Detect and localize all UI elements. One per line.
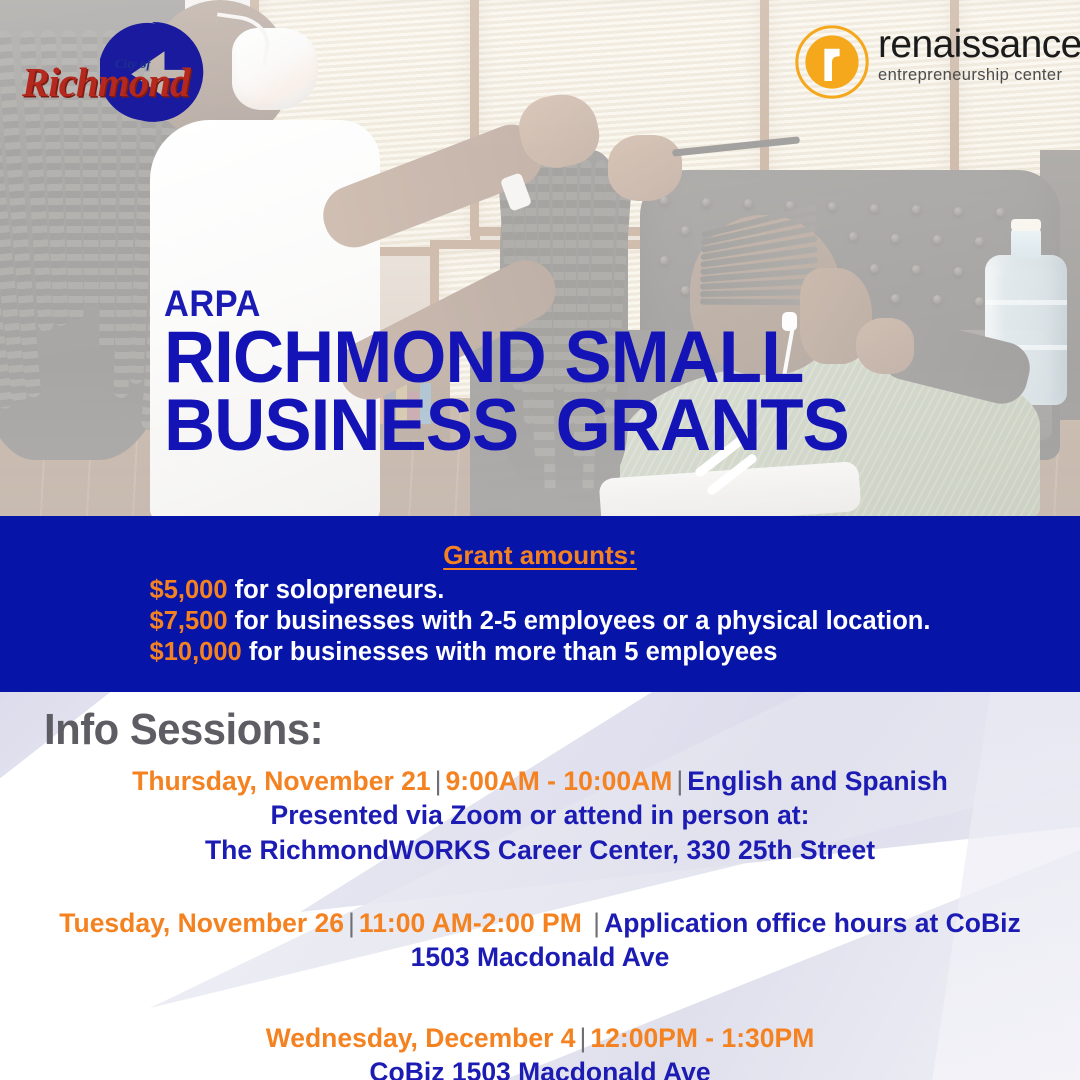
grant-amounts-list: $5,000 for solopreneurs.$7,500 for busin… <box>150 575 931 668</box>
session-date: Tuesday, November 26 <box>59 908 344 938</box>
session-detail-line: The RichmondWORKS Career Center, 330 25t… <box>0 833 1080 868</box>
grant-amount-value: $10,000 <box>150 638 242 666</box>
grant-amounts-heading: Grant amounts: <box>443 540 637 571</box>
session-note: English and Spanish <box>687 766 948 796</box>
info-sessions-heading: Info Sessions: <box>44 705 323 755</box>
info-sessions-section: Info Sessions: Thursday, November 21|9:0… <box>0 692 1080 1080</box>
grant-amount-description: for businesses with 2-5 employees or a p… <box>228 607 931 635</box>
grant-amount-description: for businesses with more than 5 employee… <box>242 638 778 666</box>
renaissance-subtitle: entrepreneurship center <box>878 66 1080 84</box>
session-separator: | <box>576 1023 591 1053</box>
session-note: Application office hours at CoBiz <box>604 908 1021 938</box>
session-separator: | <box>589 908 604 938</box>
grant-amount-description: for solopreneurs. <box>228 576 445 604</box>
headline-line-2: BUSINESS GRANTS <box>164 392 1018 460</box>
session-separator: | <box>344 908 359 938</box>
session-detail-line: CoBiz 1503 Macdonald Ave <box>0 1055 1080 1080</box>
session-time: 9:00AM - 10:00AM <box>446 766 673 796</box>
session-entry: Tuesday, November 26|11:00 AM-2:00 PM |A… <box>0 906 1080 975</box>
flyer-canvas: City of Richmond renaissance entrepreneu… <box>0 0 1080 1080</box>
renaissance-name: renaissance <box>878 24 1080 66</box>
session-entry: Thursday, November 21|9:00AM - 10:00AM|E… <box>0 764 1080 868</box>
hero-headline: ARPA RICHMOND SMALL BUSINESS GRANTS <box>164 284 1044 460</box>
hero-photo-section: City of Richmond renaissance entrepreneu… <box>0 0 1080 516</box>
renaissance-logo: renaissance entrepreneurship center <box>794 22 1066 104</box>
grant-amount-value: $7,500 <box>150 607 228 635</box>
session-headline: Tuesday, November 26|11:00 AM-2:00 PM |A… <box>0 906 1080 940</box>
session-separator: | <box>431 766 446 796</box>
grant-amount-line: $5,000 for solopreneurs. <box>150 575 931 606</box>
session-detail-line: Presented via Zoom or attend in person a… <box>0 798 1080 833</box>
session-time: 11:00 AM-2:00 PM <box>359 908 589 938</box>
grant-amounts-band: Grant amounts: $5,000 for solopreneurs.$… <box>0 516 1080 692</box>
session-detail-line: 1503 Macdonald Ave <box>0 940 1080 975</box>
grant-amount-value: $5,000 <box>150 576 228 604</box>
session-date: Wednesday, December 4 <box>266 1023 576 1053</box>
session-headline: Thursday, November 21|9:00AM - 10:00AM|E… <box>0 764 1080 798</box>
richmond-wordmark: Richmond <box>22 58 252 106</box>
grant-amount-line: $10,000 for businesses with more than 5 … <box>150 637 931 668</box>
sessions-list: Thursday, November 21|9:00AM - 10:00AM|E… <box>0 764 1080 1080</box>
session-separator: | <box>672 766 687 796</box>
grant-amount-line: $7,500 for businesses with 2-5 employees… <box>150 606 931 637</box>
city-of-richmond-logo: City of Richmond <box>14 14 262 126</box>
headline-line-1: RICHMOND SMALL <box>164 324 1018 392</box>
renaissance-r-circle-icon <box>794 24 870 100</box>
session-date: Thursday, November 21 <box>132 766 430 796</box>
session-entry: Wednesday, December 4|12:00PM - 1:30PMCo… <box>0 1021 1080 1080</box>
session-headline: Wednesday, December 4|12:00PM - 1:30PM <box>0 1021 1080 1055</box>
session-time: 12:00PM - 1:30PM <box>590 1023 814 1053</box>
